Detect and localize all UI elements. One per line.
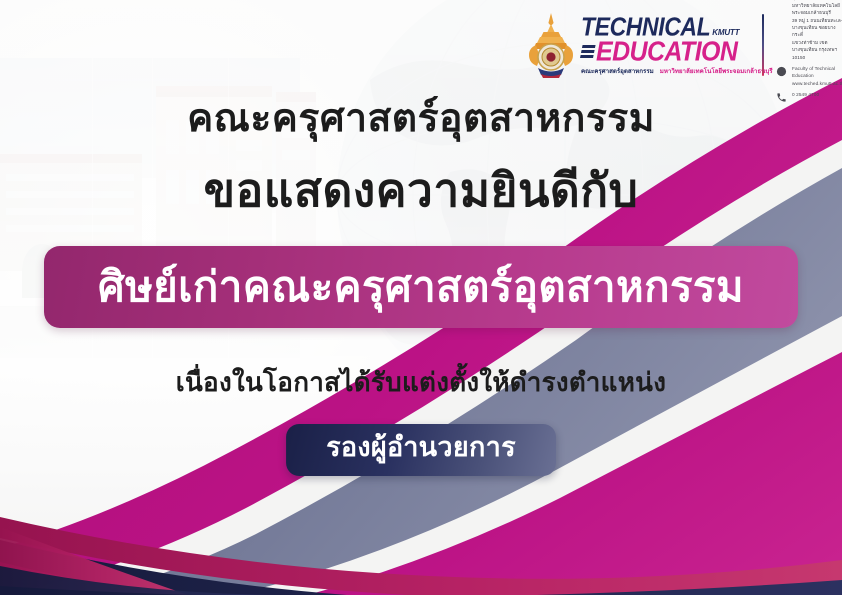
position-pill: รองผู้อำนวยการ	[286, 424, 556, 476]
position-pill-text: รองผู้อำนวยการ	[326, 431, 516, 465]
faculty-heading: คณะครุศาสตร์อุตสาหกรรม	[0, 95, 842, 144]
congratulation-poster: TECHNICAL KMUTT EDUCATION คณะครุศาสตร์อุ…	[0, 0, 842, 595]
poster-content: คณะครุศาสตร์อุตสาหกรรม ขอแสดงความยินดีกั…	[0, 0, 842, 595]
alumni-banner-text: ศิษย์เก่าคณะครุศาสตร์อุตสาหกรรม	[98, 262, 744, 312]
occasion-text: เนื่องในโอกาสได้รับแต่งตั้งให้ดำรงตำแหน่…	[0, 366, 842, 400]
congratulations-heading: ขอแสดงความยินดีกับ	[0, 162, 842, 220]
alumni-banner: ศิษย์เก่าคณะครุศาสตร์อุตสาหกรรม	[44, 246, 798, 328]
